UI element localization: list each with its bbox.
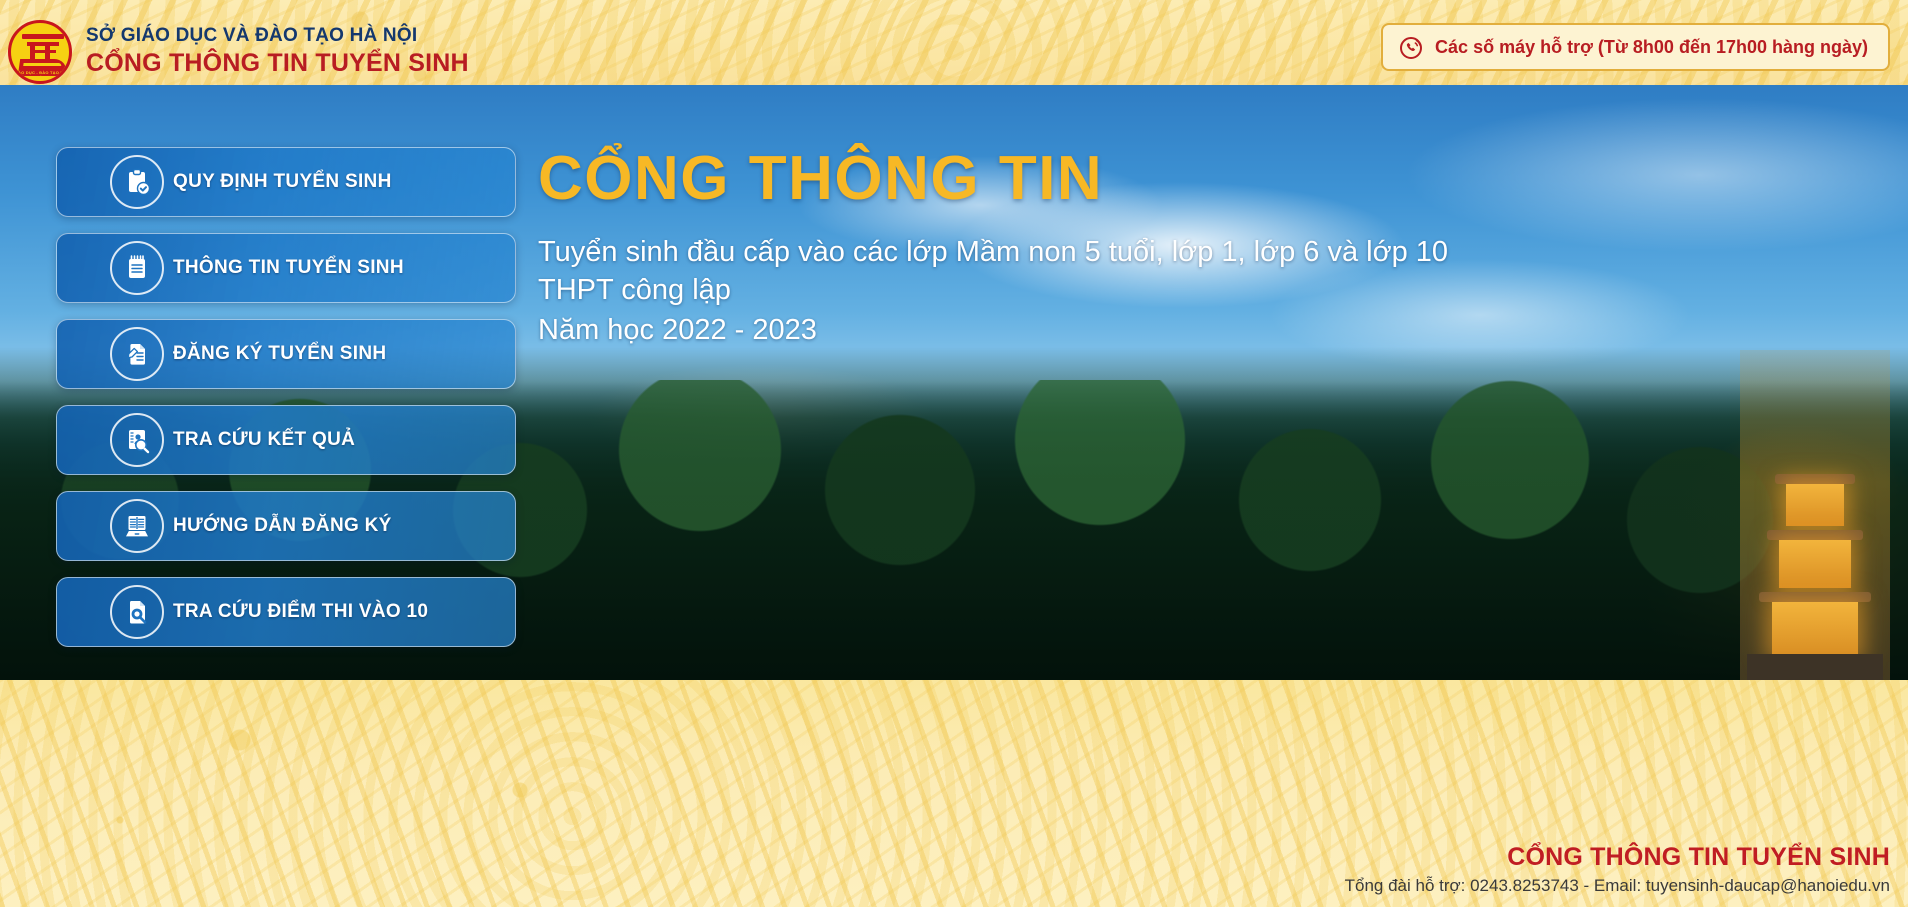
- phone-call-icon: [1399, 34, 1425, 60]
- nav-item-quy-dinh-tuyen-sinh[interactable]: QUY ĐỊNH TUYỂN SINH: [56, 147, 516, 217]
- hero-subtitle: Tuyển sinh đầu cấp vào các lớp Mầm non 5…: [538, 233, 1473, 309]
- pagoda-roof-bottom: [1759, 592, 1871, 602]
- support-hotline-label: Các số máy hỗ trợ (Từ 8h00 đến 17h00 hàn…: [1435, 37, 1868, 58]
- nav-label: QUY ĐỊNH TUYỂN SINH: [173, 171, 392, 193]
- main-navigation: QUY ĐỊNH TUYỂN SINH: [56, 147, 516, 647]
- document-search-icon: [110, 585, 164, 639]
- department-name: SỞ GIÁO DỤC VÀ ĐÀO TẠO HÀ NỘI: [86, 24, 469, 48]
- pagoda-level-bottom: [1772, 602, 1858, 656]
- nav-item-huong-dan-dang-ky[interactable]: HƯỚNG DẪN ĐĂNG KÝ: [56, 491, 516, 561]
- hero-school-year: Năm học 2022 - 2023: [538, 311, 1518, 349]
- hero-title: CỔNG THÔNG TIN: [538, 143, 1518, 215]
- hanoi-education-logo: GIÁO DỤC - ĐÀO TẠO HÀ NỘI: [8, 20, 72, 84]
- document-pencil-icon: [110, 327, 164, 381]
- logo-gate-pillar-left: [30, 46, 35, 60]
- pagoda-level-middle: [1779, 540, 1851, 588]
- pagoda-level-top: [1786, 484, 1844, 526]
- header-title-block: SỞ GIÁO DỤC VÀ ĐÀO TẠO HÀ NỘI CỔNG THÔNG…: [86, 24, 469, 79]
- nav-label: TRA CỨU KẾT QUẢ: [173, 429, 355, 451]
- pagoda-base: [1747, 654, 1883, 680]
- nav-item-dang-ky-tuyen-sinh[interactable]: ĐĂNG KÝ TUYỂN SINH: [56, 319, 516, 389]
- laptop-book-icon: [110, 499, 164, 553]
- contact-card-search-icon: [110, 413, 164, 467]
- footer-contact-info: Tổng đài hỗ trợ: 0243.8253743 - Email: t…: [1345, 873, 1890, 899]
- hero-banner: QUY ĐỊNH TUYỂN SINH: [0, 85, 1908, 680]
- footer-portal-name: CỔNG THÔNG TIN TUYỂN SINH: [1345, 841, 1890, 873]
- portal-name: CỔNG THÔNG TIN TUYỂN SINH: [86, 48, 469, 79]
- logo-gate-roof: [22, 34, 64, 39]
- pagoda-photo-decoration: [1740, 350, 1890, 680]
- nav-item-thong-tin-tuyen-sinh[interactable]: THÔNG TIN TUYỂN SINH: [56, 233, 516, 303]
- nav-item-tra-cuu-diem-thi-vao-10[interactable]: TRA CỨU ĐIỂM THI VÀO 10: [56, 577, 516, 647]
- pagoda-roof-top: [1775, 474, 1855, 484]
- footer-text-block: CỔNG THÔNG TIN TUYỂN SINH Tổng đài hỗ tr…: [1345, 841, 1890, 899]
- page-root: GIÁO DỤC - ĐÀO TẠO HÀ NỘI SỞ GIÁO DỤC VÀ…: [0, 0, 1908, 907]
- logo-gate-pillar-right: [45, 46, 50, 60]
- nav-label: HƯỚNG DẪN ĐĂNG KÝ: [173, 515, 392, 537]
- logo-gate-crossbar: [30, 50, 56, 53]
- nav-label: TRA CỨU ĐIỂM THI VÀO 10: [173, 601, 428, 623]
- notepad-lines-icon: [110, 241, 164, 295]
- clipboard-check-icon: [110, 155, 164, 209]
- nav-label: THÔNG TIN TUYỂN SINH: [173, 257, 404, 279]
- nav-label: ĐĂNG KÝ TUYỂN SINH: [173, 343, 386, 365]
- pagoda-roof-middle: [1767, 530, 1863, 540]
- logo-caption: GIÁO DỤC - ĐÀO TẠO HÀ NỘI: [11, 70, 69, 80]
- nav-item-tra-cuu-ket-qua[interactable]: TRA CỨU KẾT QUẢ: [56, 405, 516, 475]
- hero-text-block: CỔNG THÔNG TIN Tuyển sinh đầu cấp vào cá…: [538, 143, 1518, 349]
- support-hotline-button[interactable]: Các số máy hỗ trợ (Từ 8h00 đến 17h00 hàn…: [1381, 23, 1890, 71]
- site-footer: CỔNG THÔNG TIN TUYỂN SINH Tổng đài hỗ tr…: [0, 680, 1908, 907]
